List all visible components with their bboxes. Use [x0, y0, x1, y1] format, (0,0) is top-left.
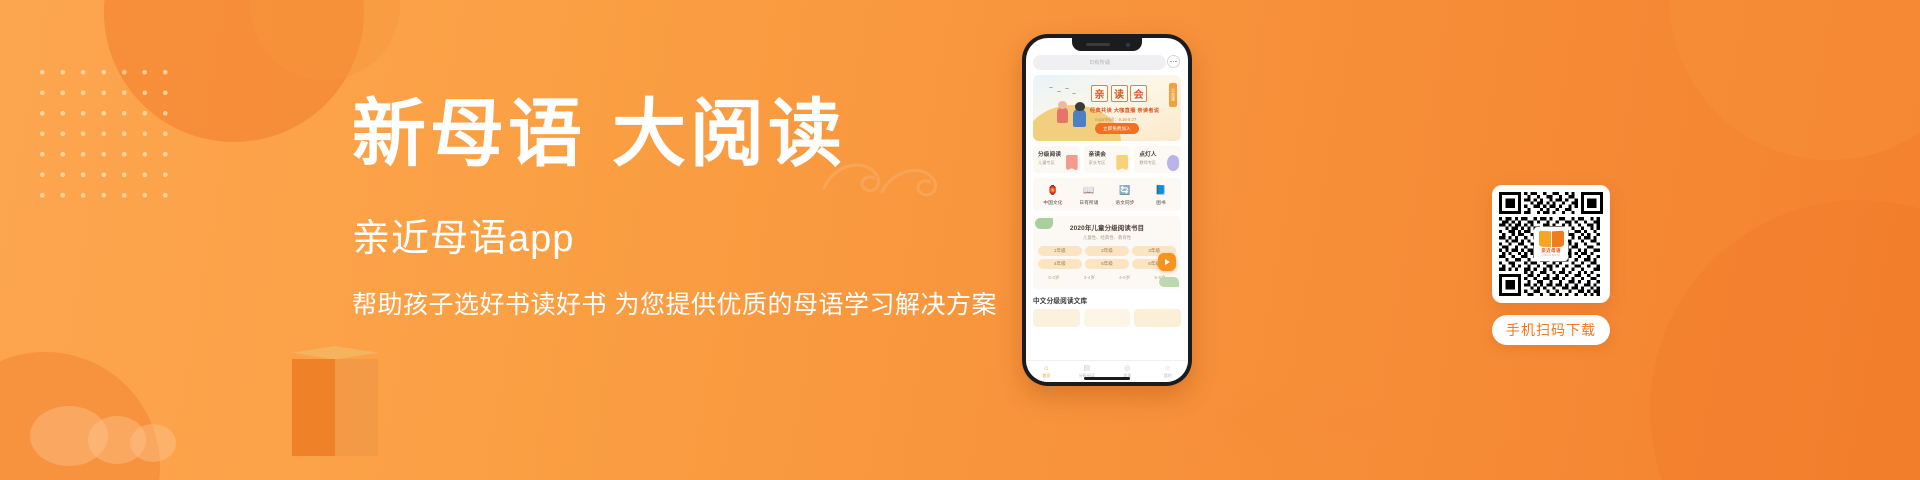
- birds-illustration: [1049, 87, 1079, 99]
- leaf-decoration-top: [1035, 218, 1053, 229]
- qr-code-image: 亲近母语 QINJIN MUYU: [1499, 192, 1603, 296]
- age-button[interactable]: 4-5岁: [1109, 273, 1141, 283]
- tab-label: 我的: [1148, 373, 1189, 379]
- age-button[interactable]: 3-4岁: [1073, 273, 1105, 283]
- quick-link-label: 图书: [1143, 200, 1179, 206]
- quick-link-books[interactable]: 📘 图书: [1143, 184, 1179, 206]
- tile-parent-reading[interactable]: 亲读会 家长专区: [1084, 146, 1131, 173]
- play-video-icon[interactable]: [1158, 253, 1176, 271]
- sync-icon: 🔄: [1119, 184, 1132, 197]
- app-screen-content: 日有所诵 亲 读 会 公益课 经典共读 大咖: [1026, 38, 1188, 327]
- download-section: 亲近母语 QINJIN MUYU 手机扫码下载: [1492, 185, 1610, 345]
- grade-button[interactable]: 4年级: [1038, 259, 1082, 269]
- promo-date: report时间：9.16-9.27: [1095, 117, 1136, 123]
- library-card[interactable]: [1134, 309, 1181, 327]
- tab-label: 首页: [1026, 373, 1067, 379]
- booklist-title: 2020年儿童分级阅读书目: [1038, 223, 1176, 232]
- decorative-circle-top-left-2: [250, 0, 400, 80]
- quick-link-daily-recite[interactable]: 📖 日有所诵: [1071, 184, 1107, 206]
- book-logo-icon: [1539, 231, 1564, 247]
- leaf-decoration-bottom: [1159, 277, 1179, 287]
- grid-icon: ▤: [1067, 364, 1108, 373]
- search-input[interactable]: 日有所诵: [1033, 55, 1166, 70]
- more-dots-icon[interactable]: [1167, 55, 1180, 68]
- headline-part-1: 新母语: [352, 94, 586, 176]
- quick-link-label: 中国文化: [1035, 200, 1071, 206]
- promo-title-char-3: 会: [1130, 85, 1147, 102]
- download-button[interactable]: 手机扫码下载: [1492, 315, 1610, 345]
- home-icon: ⌂: [1026, 364, 1067, 373]
- banner-copy: 新母语大阅读 亲近母语app 帮助孩子选好书读好书 为您提供优质的母语学习解决方…: [352, 92, 1052, 322]
- grade-button[interactable]: 5年级: [1085, 259, 1129, 269]
- book-icon: 📘: [1155, 184, 1168, 197]
- banner-app-name: 亲近母语app: [352, 216, 1052, 262]
- headline-part-2: 大阅读: [612, 94, 846, 176]
- decorative-circle-top-right: [1670, 0, 1920, 160]
- grade-button[interactable]: 2年级: [1085, 246, 1129, 256]
- grade-row-1: 1年级 2年级 3年级: [1038, 246, 1176, 256]
- banner-headline: 新母语大阅读: [352, 92, 1052, 178]
- decorative-dot-grid: [32, 62, 172, 212]
- kid-illustration-2: [1073, 109, 1086, 127]
- kid-illustration-1: [1057, 107, 1068, 123]
- quick-links-row: 🏮 中国文化 📖 日有所诵 🔄 语文同步 📘 图书: [1033, 178, 1181, 211]
- phone-notch: [1072, 38, 1142, 51]
- decorative-circle-right: [1650, 200, 1920, 480]
- category-tiles: 分级阅读 儿童专区 亲读会 家长专区 点灯人 教师专区: [1033, 146, 1181, 173]
- compass-icon: ◎: [1107, 364, 1148, 373]
- search-placeholder: 日有所诵: [1089, 59, 1110, 66]
- quick-link-chinese-culture[interactable]: 🏮 中国文化: [1035, 184, 1071, 206]
- qr-center-logo: 亲近母语 QINJIN MUYU: [1534, 227, 1568, 261]
- promo-subtitle: 经典共读 大咖直播 亲读者说: [1090, 107, 1159, 114]
- decorative-cube: [292, 346, 378, 456]
- tile-teacher-zone[interactable]: 点灯人 教师专区: [1134, 146, 1181, 173]
- banner-tagline: 帮助孩子选好书读好书 为您提供优质的母语学习解决方案: [352, 288, 1052, 322]
- decorative-circle-bottom-left: [0, 352, 160, 480]
- booklist-subtitle: 儿童性、经典性、教育性: [1038, 235, 1176, 241]
- quick-link-label: 日有所诵: [1071, 200, 1107, 206]
- grade-button[interactable]: 1年级: [1038, 246, 1082, 256]
- lantern-icon: 🏮: [1047, 184, 1060, 197]
- age-row-3: 0-3岁 3-4岁 4-5岁 5-6岁: [1038, 273, 1176, 283]
- tile-graded-reading[interactable]: 分级阅读 儿童专区: [1033, 146, 1080, 173]
- library-card[interactable]: [1033, 309, 1080, 327]
- lamp-purple-icon: [1167, 155, 1179, 171]
- tab-home[interactable]: ⌂ 首页: [1026, 364, 1067, 379]
- book-open-icon: 📖: [1083, 184, 1096, 197]
- quick-link-sync-course[interactable]: 🔄 语文同步: [1107, 184, 1143, 206]
- decorative-circle-top-left: [104, 0, 364, 142]
- bookmark-red-icon: [1066, 155, 1078, 171]
- qr-code-card: 亲近母语 QINJIN MUYU: [1492, 185, 1610, 303]
- promo-title: 亲 读 会: [1091, 85, 1147, 102]
- promo-badge: 公益课: [1169, 83, 1177, 107]
- promo-card[interactable]: 亲 读 会 公益课 经典共读 大咖直播 亲读者说 report时间：9.16-9…: [1033, 75, 1181, 141]
- decorative-phone-glow: [1152, 372, 1572, 468]
- promo-cta-button[interactable]: 立即免费加入: [1095, 123, 1139, 134]
- library-cards: [1033, 309, 1181, 327]
- tab-profile[interactable]: ☺ 我的: [1148, 364, 1189, 379]
- phone-mockup: 日有所诵 亲 读 会 公益课 经典共读 大咖: [1022, 34, 1192, 386]
- promo-title-char-2: 读: [1111, 85, 1128, 102]
- quick-link-label: 语文同步: [1107, 200, 1143, 206]
- bookmark-yellow-icon: [1116, 155, 1128, 171]
- logo-name-en: QINJIN MUYU: [1542, 254, 1561, 257]
- phone-screen: 日有所诵 亲 读 会 公益课 经典共读 大咖: [1026, 38, 1188, 382]
- promo-title-char-1: 亲: [1091, 85, 1108, 102]
- library-section-title: 中文分级阅读文库: [1033, 295, 1181, 305]
- grade-row-2: 4年级 5年级 6年级: [1038, 259, 1176, 269]
- promo-banner: 新母语大阅读 亲近母语app 帮助孩子选好书读好书 为您提供优质的母语学习解决方…: [0, 0, 1920, 480]
- booklist-card: 2020年儿童分级阅读书目 儿童性、经典性、教育性 1年级 2年级 3年级 4年…: [1033, 216, 1181, 289]
- library-card[interactable]: [1084, 309, 1131, 327]
- profile-icon: ☺: [1148, 364, 1189, 373]
- age-button[interactable]: 0-3岁: [1038, 273, 1070, 283]
